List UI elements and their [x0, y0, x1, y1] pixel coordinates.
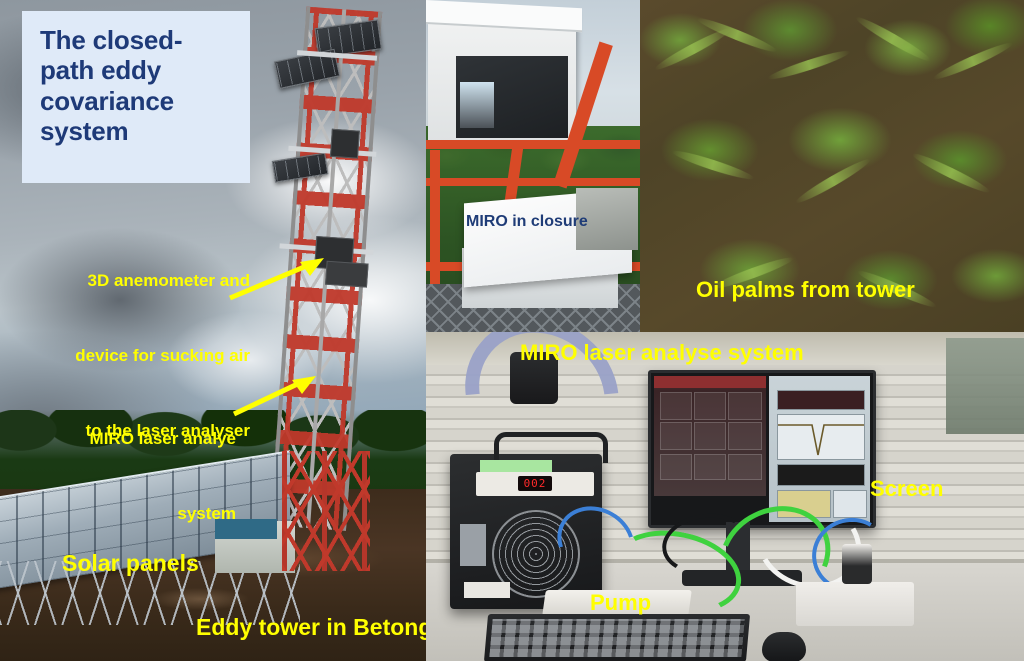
annotation-miro-laser-line-1: MIRO laser analye — [44, 426, 236, 451]
monitor-screen — [648, 370, 876, 528]
spectrometer-software-window — [769, 376, 870, 522]
photo-oil-palms: Oil palms from tower — [640, 0, 1024, 332]
arrow-to-anemometer-icon — [228, 250, 338, 305]
analyser-software-window — [654, 376, 766, 496]
timeseries-plot-top — [777, 390, 865, 410]
label-pump: Pump — [590, 590, 651, 616]
reading-cell — [660, 454, 692, 480]
reading-cell — [728, 392, 762, 420]
annotation-miro-laser: MIRO laser analye system — [44, 376, 236, 576]
label-miro-in-closure: MIRO in closure — [466, 213, 588, 231]
label-solar-panels: Solar panels — [62, 550, 199, 577]
label-oil-palms: Oil palms from tower — [696, 277, 915, 303]
reading-cell — [694, 422, 726, 450]
figure-root: The closed- path eddy covariance system … — [0, 0, 1024, 661]
arrow-to-miro-icon — [232, 372, 326, 420]
power-adapter-box — [796, 582, 914, 626]
photo-miro-in-closure: MIRO in closure — [426, 0, 640, 332]
pump-carry-handle — [494, 432, 608, 463]
title-line-2: path eddy — [40, 55, 234, 85]
software-titlebar — [654, 376, 766, 388]
pump-rating-plate — [464, 582, 510, 598]
mains-plug — [842, 544, 872, 584]
tower-red-base — [282, 451, 370, 571]
label-eddy-tower: Eddy tower in Betong — [196, 614, 426, 641]
reading-cell — [728, 454, 762, 480]
pump-label-strip — [480, 460, 552, 472]
platform-rail-top — [426, 140, 640, 149]
timeseries-plot-bottom — [777, 464, 865, 486]
title-line-1: The closed- — [40, 25, 234, 55]
title-line-4: system — [40, 116, 234, 146]
absorption-line-plot — [777, 414, 865, 460]
keyboard — [484, 614, 750, 661]
reading-cell — [694, 392, 726, 420]
title-card: The closed- path eddy covariance system — [22, 11, 250, 183]
annotation-anemometer-line-1: 3D anemometer and — [38, 268, 250, 293]
absorption-curve-icon — [778, 415, 864, 459]
title-line-3: covariance — [40, 86, 234, 116]
closure-hut-equipment — [460, 82, 494, 128]
photo-eddy-tower: The closed- path eddy covariance system … — [0, 0, 426, 661]
photo-laser-analyser-cabin: 002 MIRO laser analyse system Pump Scree… — [426, 332, 1024, 661]
platform-rail-mid — [426, 178, 640, 186]
reading-cell — [660, 422, 692, 450]
label-screen: Screen — [870, 476, 943, 502]
label-miro-laser-analyse-system: MIRO laser analyse system — [520, 340, 804, 366]
pump-connector-block — [460, 524, 486, 566]
instrument-box-mid — [330, 129, 360, 159]
reading-cell — [694, 454, 726, 480]
reading-cell — [728, 422, 762, 450]
reading-cell — [660, 392, 692, 420]
cabin-window — [946, 338, 1024, 434]
annotation-anemometer-line-2: device for sucking air — [38, 343, 250, 368]
mouse — [762, 632, 806, 661]
annotation-miro-laser-line-2: system — [44, 501, 236, 526]
pump-display: 002 — [518, 476, 552, 491]
